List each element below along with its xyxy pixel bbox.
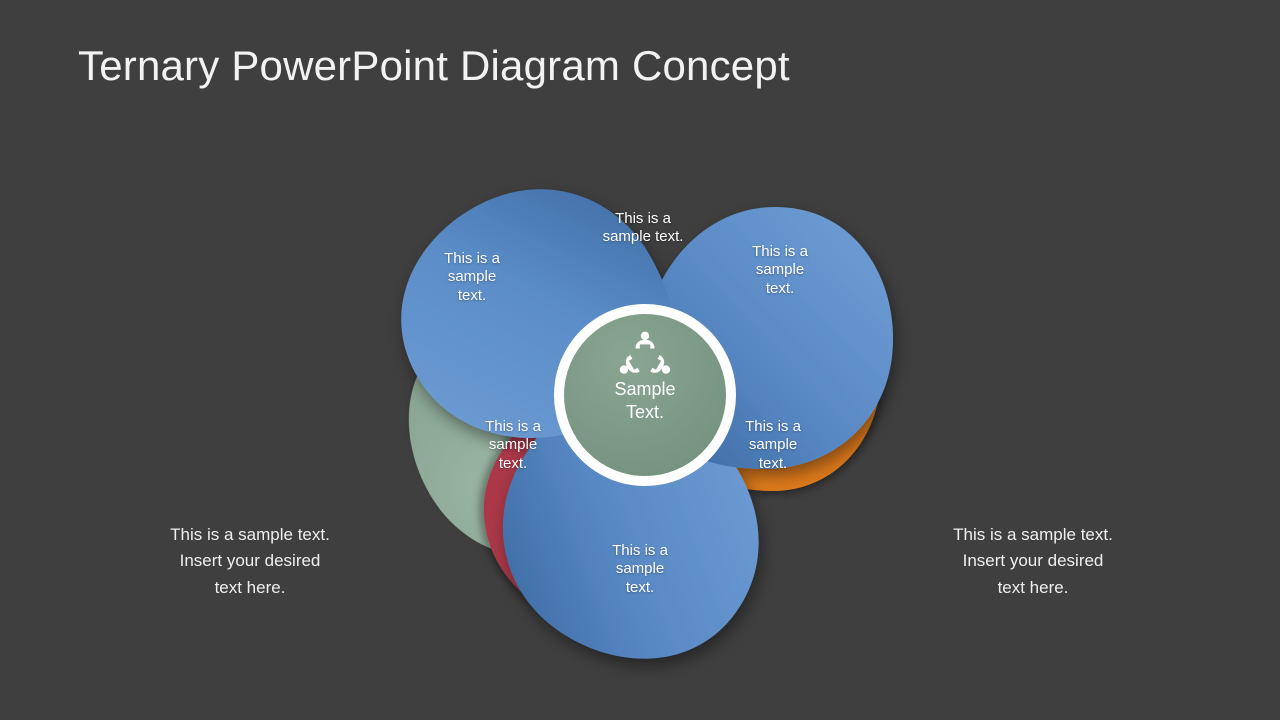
ternary-diagram: This is a sample text. This is a sample … xyxy=(390,150,900,650)
note-right-line2: Insert your desired xyxy=(903,548,1163,574)
note-left-line1: This is a sample text. xyxy=(120,522,380,548)
note-right-line1: This is a sample text. xyxy=(903,522,1163,548)
note-left: This is a sample text. Insert your desir… xyxy=(120,522,380,601)
note-left-line3: text here. xyxy=(120,575,380,601)
note-left-line2: Insert your desired xyxy=(120,548,380,574)
hub-circle[interactable] xyxy=(554,304,736,486)
page-title: Ternary PowerPoint Diagram Concept xyxy=(78,42,790,90)
note-right: This is a sample text. Insert your desir… xyxy=(903,522,1163,601)
slide-canvas: Ternary PowerPoint Diagram Concept xyxy=(0,0,1280,720)
diagram-svg xyxy=(390,150,900,650)
note-right-line3: text here. xyxy=(903,575,1163,601)
